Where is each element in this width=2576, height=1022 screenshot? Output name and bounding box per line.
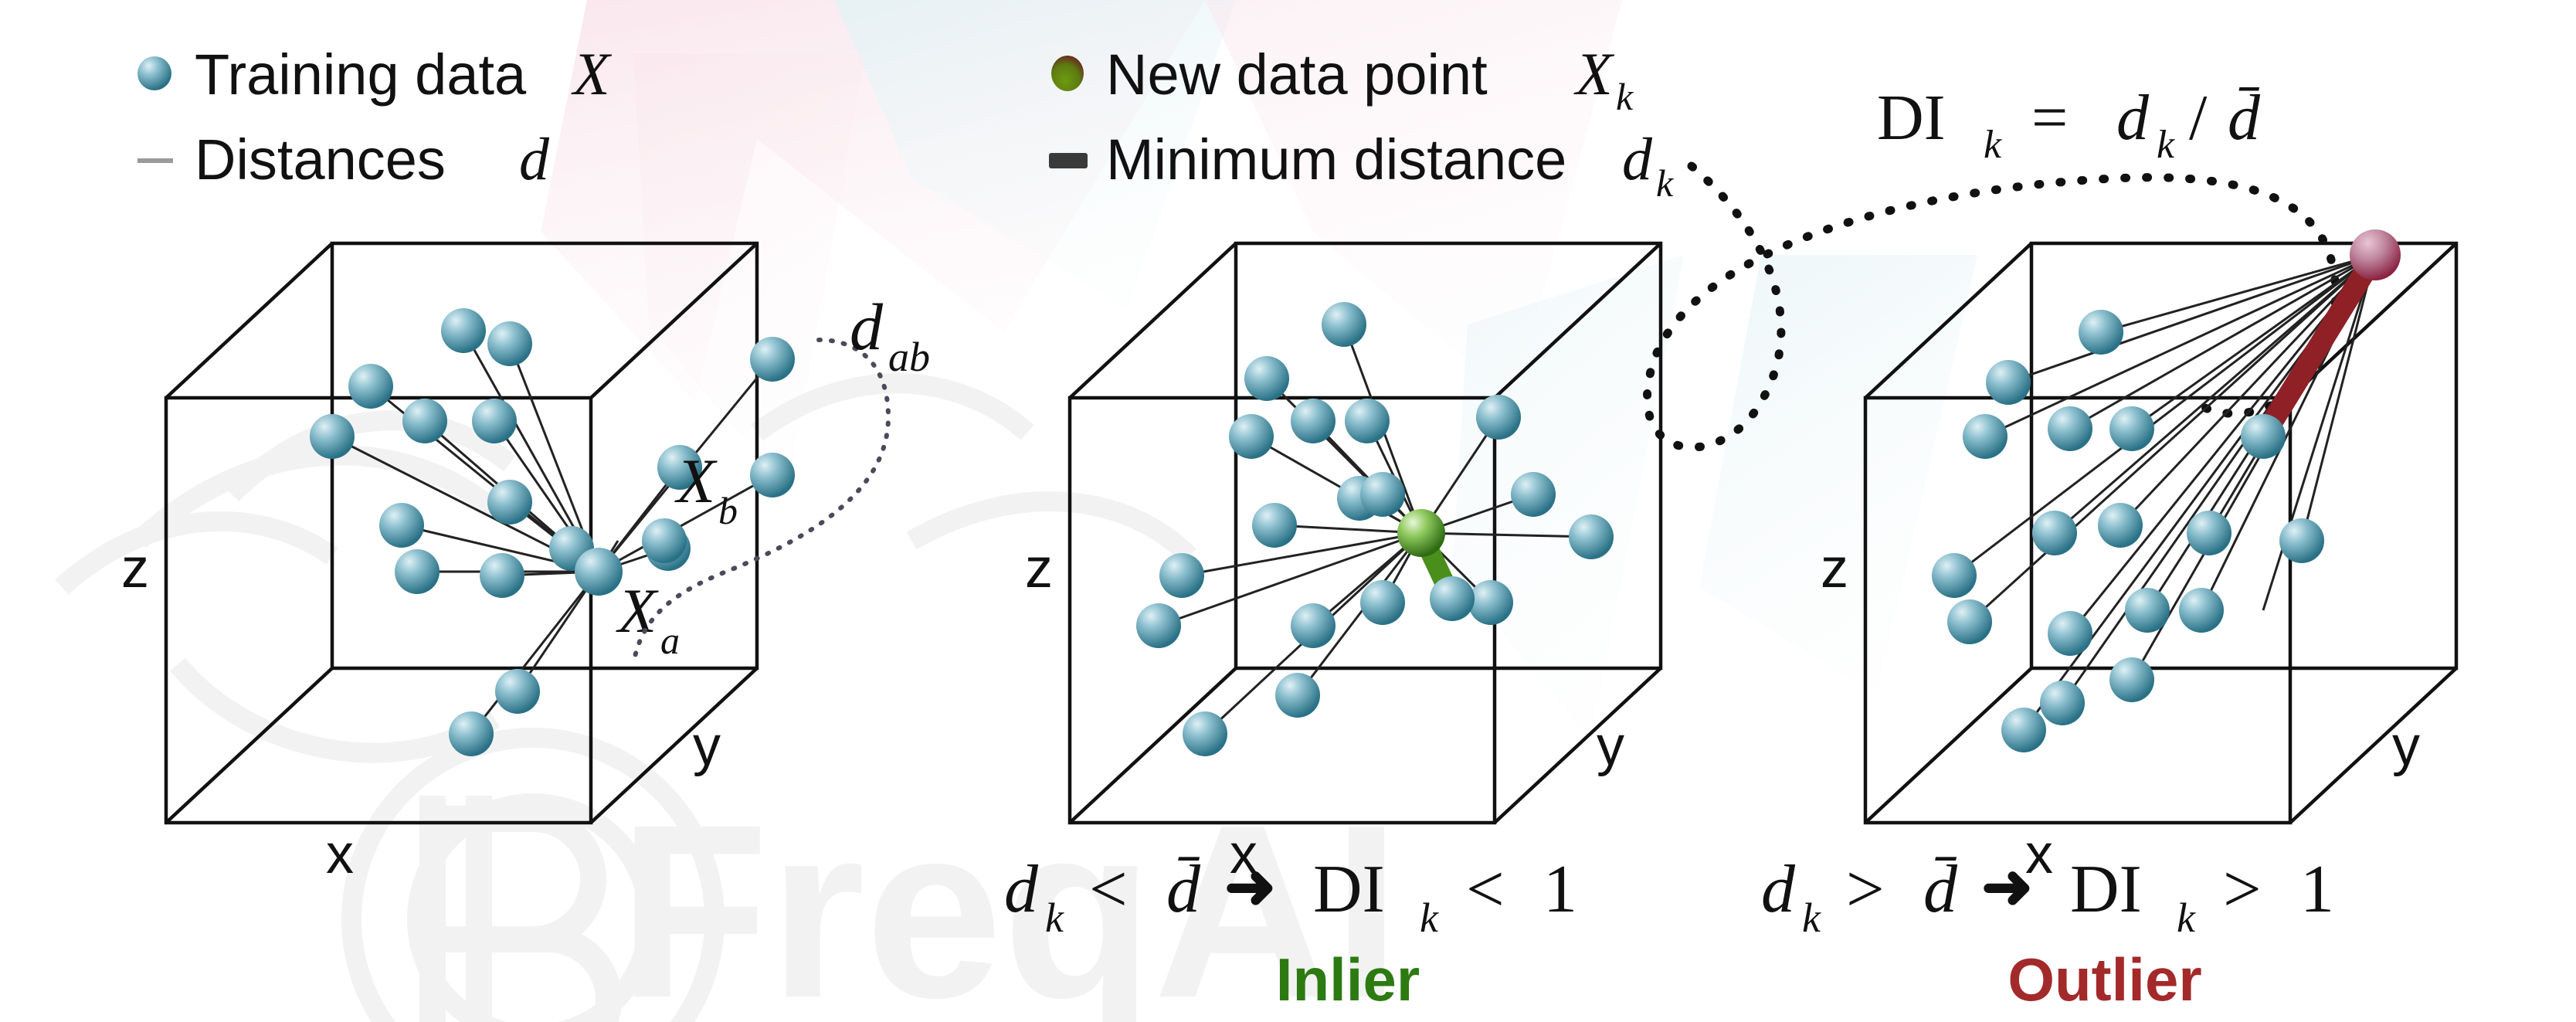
legend-label-training-data: Training data bbox=[195, 42, 527, 107]
legend: Training data X Distances d New data poi… bbox=[137, 40, 1674, 205]
axis-label-y-3: y bbox=[2392, 715, 2420, 777]
legend-symbol-training-data: X bbox=[571, 40, 613, 107]
legend-dash-gray-icon bbox=[137, 158, 173, 163]
data-point bbox=[379, 503, 424, 548]
data-point bbox=[441, 308, 486, 353]
data-point bbox=[487, 321, 532, 366]
caption-inlier-value: 1 bbox=[1543, 852, 1577, 927]
data-point bbox=[2109, 657, 2154, 702]
data-point bbox=[395, 549, 440, 594]
data-point bbox=[402, 399, 447, 443]
legend-dash-dark-icon bbox=[1049, 153, 1088, 168]
formula-di-definition: DI k = d k / d̄ bbox=[1877, 82, 2261, 167]
label-xa: X bbox=[616, 576, 659, 646]
axis-label-y-1: y bbox=[693, 715, 721, 777]
legend-item-minimum-distance[interactable]: Minimum distance d k bbox=[1049, 125, 1674, 205]
panel-outlier: z x y bbox=[1821, 229, 2456, 885]
distance-lines-2 bbox=[1159, 324, 1591, 734]
formula-lhs: DI bbox=[1877, 82, 1946, 154]
data-point bbox=[449, 711, 494, 756]
legend-item-distances[interactable]: Distances d bbox=[137, 125, 550, 192]
formula-lhs-sub: k bbox=[1984, 123, 2002, 167]
caption-outlier-di-sub: k bbox=[2177, 895, 2196, 941]
legend-symbol-new-data-point: X bbox=[1573, 40, 1615, 107]
data-point bbox=[348, 364, 393, 409]
data-point-nearest bbox=[2241, 414, 2286, 459]
distance-lines-3 bbox=[1954, 255, 2375, 730]
caption-outlier-arrow-icon: ➜ bbox=[1981, 852, 2033, 921]
data-point bbox=[1963, 414, 2008, 459]
data-point bbox=[1932, 553, 1977, 598]
caption-inlier-dbar: d̄ bbox=[1166, 852, 1201, 927]
caption-inlier-rel1: < bbox=[1089, 852, 1128, 927]
legend-symbol-minimum-distance-sub: k bbox=[1656, 161, 1674, 205]
axis-label-y-2: y bbox=[1597, 715, 1624, 777]
data-point bbox=[2179, 588, 2224, 633]
panel-training: X b X a d ab z x y bbox=[121, 243, 930, 885]
data-point bbox=[1345, 399, 1390, 443]
data-point bbox=[2279, 518, 2324, 563]
formula-equals: = bbox=[2031, 82, 2068, 154]
data-point bbox=[1468, 580, 1513, 625]
caption-outlier-dk-sub: k bbox=[1802, 895, 1821, 941]
data-point bbox=[1275, 673, 1320, 718]
legend-label-distances: Distances bbox=[195, 127, 446, 192]
caption-inlier-dk-sub: k bbox=[1045, 895, 1064, 941]
caption-outlier-dbar: d̄ bbox=[1923, 852, 1958, 927]
new-data-point-inlier bbox=[1397, 509, 1445, 557]
caption-inlier-di-sub: k bbox=[1420, 895, 1439, 941]
caption-outlier-rel1: > bbox=[1846, 852, 1885, 927]
data-point bbox=[310, 414, 355, 459]
data-point bbox=[1947, 599, 1992, 644]
legend-item-new-data-point[interactable]: New data point X k bbox=[1051, 40, 1634, 118]
axis-label-x-1: x bbox=[326, 823, 354, 885]
data-point bbox=[2109, 406, 2154, 451]
label-dab: d bbox=[850, 290, 884, 364]
data-point bbox=[1291, 603, 1336, 648]
data-point-nearest bbox=[1430, 576, 1475, 621]
label-xb: X bbox=[674, 446, 718, 516]
data-point bbox=[495, 669, 540, 714]
label-xa-sub: a bbox=[660, 619, 680, 662]
axis-label-z-2: z bbox=[1025, 538, 1053, 599]
caption-outlier-rel2: > bbox=[2223, 852, 2262, 927]
legend-symbol-minimum-distance: d bbox=[1622, 125, 1653, 192]
data-point bbox=[2187, 511, 2232, 555]
data-point bbox=[2079, 310, 2123, 355]
caption-inlier-di: DI bbox=[1313, 852, 1385, 927]
data-point bbox=[1569, 514, 1614, 559]
legend-symbol-new-data-point-sub: k bbox=[1616, 75, 1634, 118]
data-point bbox=[1476, 395, 1521, 440]
legend-dot-new-point-icon bbox=[1051, 56, 1084, 91]
data-point bbox=[750, 337, 795, 382]
caption-inlier: d k < d̄ ➜ DI k < 1 Inlier bbox=[1004, 852, 1577, 1014]
caption-outlier-value: 1 bbox=[2300, 852, 2334, 927]
legend-item-training-data[interactable]: Training data X bbox=[137, 40, 613, 107]
formula-numerator-sub: k bbox=[2157, 123, 2175, 167]
legend-label-new-data-point: New data point bbox=[1106, 42, 1488, 107]
data-point bbox=[1986, 360, 2031, 405]
data-point-xa bbox=[575, 548, 623, 596]
data-point bbox=[1291, 399, 1336, 443]
new-data-point-outlier bbox=[2350, 229, 2401, 280]
data-point bbox=[1252, 503, 1297, 548]
axis-label-z-3: z bbox=[1821, 538, 1848, 599]
callout-dotted-path-dab bbox=[633, 340, 888, 664]
data-point bbox=[1159, 553, 1204, 598]
data-point bbox=[2048, 406, 2092, 451]
caption-inlier-arrow-icon: ➜ bbox=[1224, 852, 1276, 921]
panel-inlier: z x y bbox=[1025, 243, 1661, 885]
data-point bbox=[480, 553, 524, 598]
legend-label-minimum-distance: Minimum distance bbox=[1106, 127, 1566, 192]
formula-numerator: d bbox=[2116, 82, 2150, 154]
data-point bbox=[1360, 472, 1405, 517]
data-point bbox=[1136, 603, 1181, 648]
label-dab-sub: ab bbox=[888, 334, 930, 380]
di-diagram: Training data X Distances d New data poi… bbox=[0, 0, 2576, 1022]
data-point bbox=[2125, 588, 2170, 633]
caption-inlier-dk: d bbox=[1004, 852, 1039, 927]
caption-inlier-word: Inlier bbox=[1276, 946, 1420, 1014]
data-point bbox=[1229, 414, 1274, 459]
caption-outlier-di: DI bbox=[2070, 852, 2142, 927]
data-point bbox=[2001, 708, 2046, 752]
data-point bbox=[2098, 503, 2143, 548]
data-point bbox=[1244, 356, 1289, 401]
data-points-2 bbox=[1136, 302, 1614, 756]
data-point bbox=[487, 480, 532, 525]
data-point bbox=[1360, 580, 1405, 625]
data-point bbox=[472, 399, 517, 443]
data-point bbox=[2048, 611, 2092, 656]
data-point bbox=[1183, 711, 1227, 756]
label-xb-sub: b bbox=[718, 489, 738, 532]
legend-dot-teal-icon bbox=[137, 56, 171, 90]
axis-label-z-1: z bbox=[121, 538, 149, 599]
data-point bbox=[750, 453, 795, 497]
data-point-xb bbox=[642, 518, 687, 563]
data-point bbox=[2040, 681, 2085, 725]
data-point bbox=[1511, 472, 1556, 517]
caption-outlier-word: Outlier bbox=[2008, 946, 2201, 1014]
formula-slash: / bbox=[2189, 82, 2208, 154]
data-point bbox=[1322, 302, 1366, 347]
data-point bbox=[2032, 511, 2077, 555]
legend-symbol-distances: d bbox=[519, 125, 550, 192]
caption-outlier-dk: d bbox=[1761, 852, 1796, 927]
caption-inlier-rel2: < bbox=[1466, 852, 1505, 927]
formula-denominator: d̄ bbox=[2228, 82, 2261, 154]
